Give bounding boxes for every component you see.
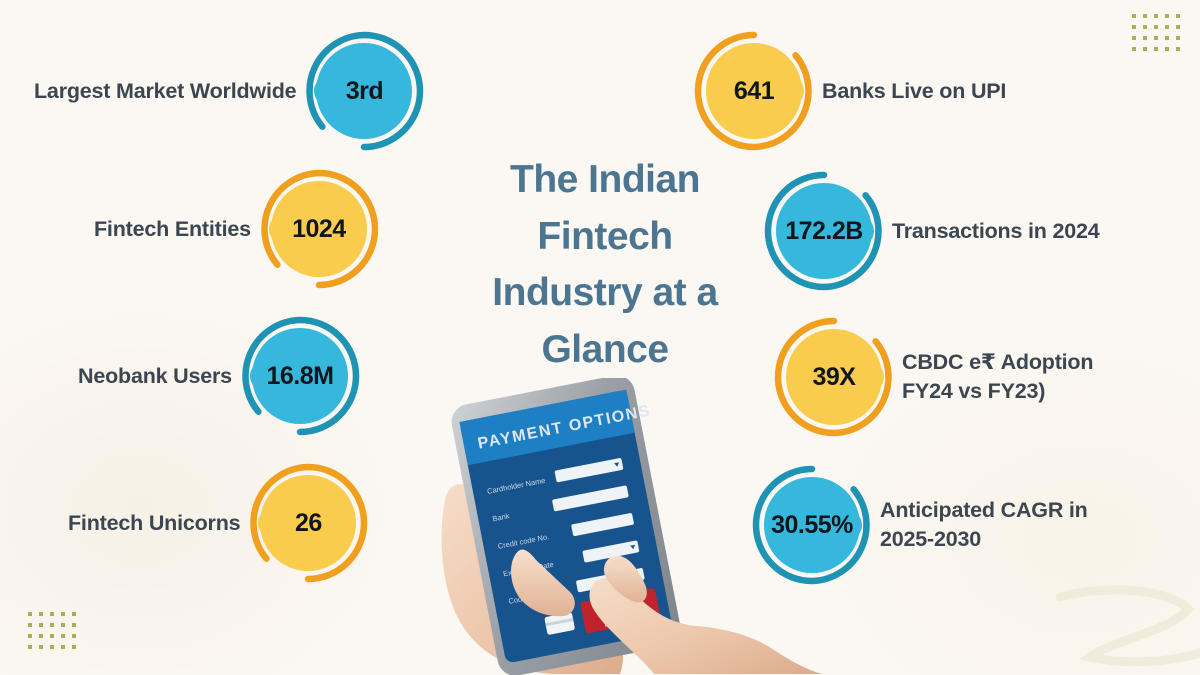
stat-item-fintech-entities[interactable]: Fintech Entities 1024 [94,167,381,291]
stat-label: Fintech Unicorns [68,509,240,538]
stat-label: Transactions in 2024 [892,217,1100,246]
dot-grid-bottom-left-icon [28,612,76,649]
stat-label: CBDC e₹ Adoption FY24 vs FY23) [902,348,1093,405]
stat-badge: 172.2B [762,169,886,293]
stat-item-anticipated-cagr[interactable]: Anticipated CAGR in 2025-2030 30.55% [750,463,1088,587]
stat-value: 1024 [271,181,367,277]
stat-badge: 3rd [302,29,426,153]
stat-item-fintech-unicorns[interactable]: Fintech Unicorns 26 [68,461,370,585]
stat-label: Fintech Entities [94,215,251,244]
stat-value: 3rd [316,43,412,139]
stat-value: 30.55% [764,477,860,573]
stat-item-largest-market[interactable]: Largest Market Worldwide 3rd [34,29,426,153]
stat-label: Banks Live on UPI [822,77,1006,106]
stat-value: 16.8M [252,328,348,424]
infographic-canvas: The Indian Fintech Industry at a Glance … [0,0,1200,675]
stat-item-cbdc-adoption[interactable]: CBDC e₹ Adoption FY24 vs FY23) 39X [772,315,1093,439]
stat-value: 39X [786,329,882,425]
stat-badge: 641 [692,29,816,153]
stat-value: 641 [706,43,802,139]
stat-item-neobank-users[interactable]: Neobank Users 16.8M [78,314,362,438]
stat-badge: 26 [246,461,370,585]
stat-item-transactions-2024[interactable]: Transactions in 2024 172.2B [762,169,1100,293]
stat-badge: 16.8M [238,314,362,438]
stat-value: 26 [260,475,356,571]
stat-item-banks-live-upi[interactable]: Banks Live on UPI 641 [692,29,1006,153]
stat-badge: 1024 [257,167,381,291]
stat-label: Neobank Users [78,362,232,391]
stat-label: Anticipated CAGR in 2025-2030 [880,496,1088,553]
stat-value: 172.2B [776,183,872,279]
page-title: The Indian Fintech Industry at a Glance [470,152,740,378]
dot-grid-top-right-icon [1132,14,1180,51]
stat-label: Largest Market Worldwide [34,77,296,106]
